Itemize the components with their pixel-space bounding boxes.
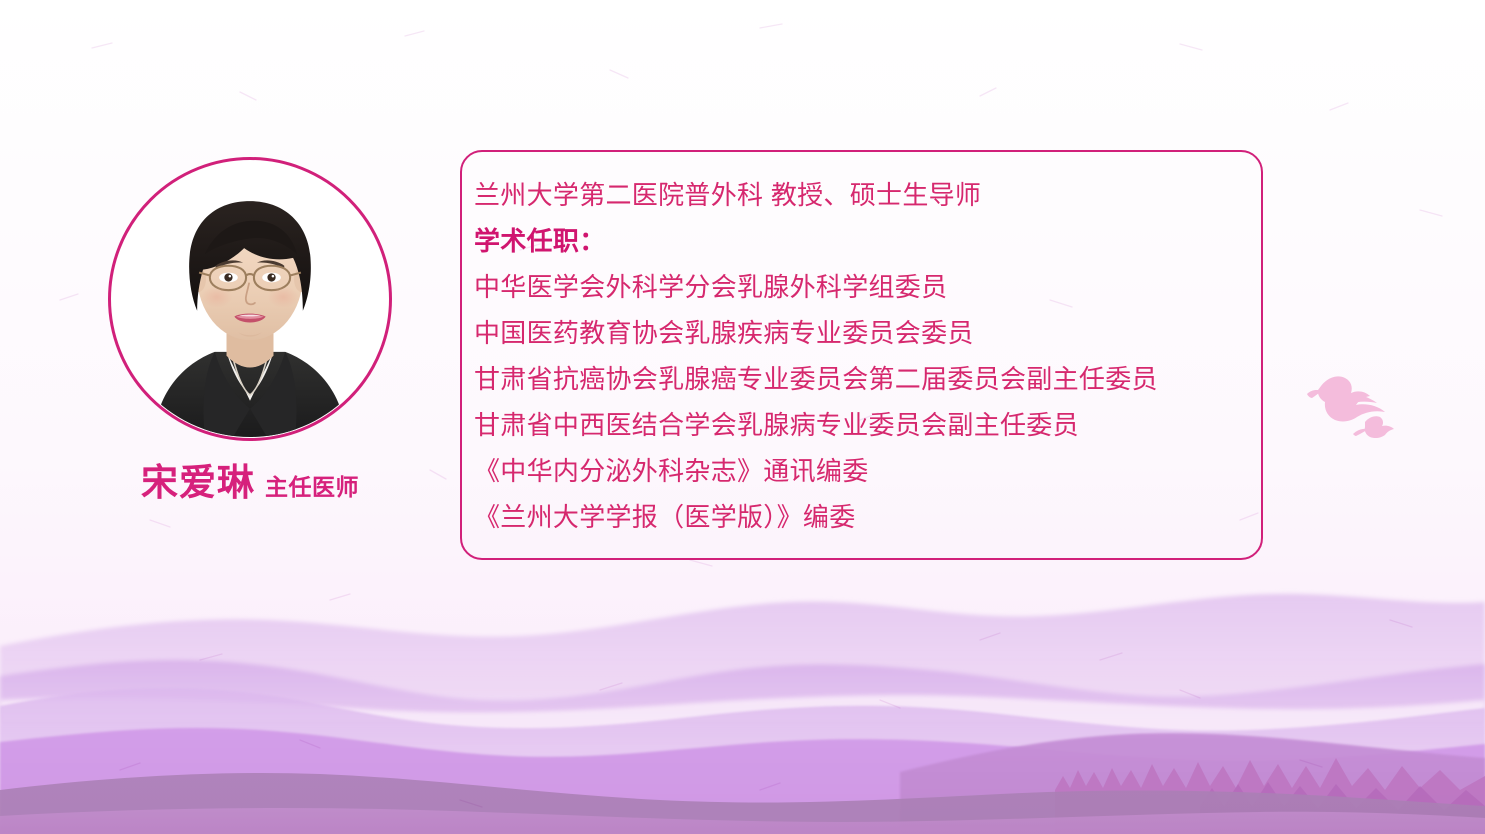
credential-line: 甘肃省抗癌协会乳腺癌专业委员会第二届委员会副主任委员	[474, 356, 1251, 402]
person-name: 宋爱琳	[141, 462, 255, 503]
credential-heading: 学术任职：	[474, 218, 1251, 264]
person-name-row: 宋爱琳主任医师	[108, 452, 392, 506]
portrait	[108, 157, 392, 441]
credentials-list: 兰州大学第二医院普外科 教授、硕士生导师 学术任职： 中华医学会外科学分会乳腺外…	[474, 172, 1251, 540]
credentials-card: 兰州大学第二医院普外科 教授、硕士生导师 学术任职： 中华医学会外科学分会乳腺外…	[460, 150, 1263, 560]
slide-canvas: 宋爱琳主任医师 兰州大学第二医院普外科 教授、硕士生导师 学术任职： 中华医学会…	[0, 0, 1485, 834]
credential-line: 甘肃省中西医结合学会乳腺病专业委员会副主任委员	[474, 402, 1251, 448]
portrait-ring	[108, 157, 392, 441]
portrait-photo	[111, 160, 389, 438]
credential-line: 兰州大学第二医院普外科 教授、硕士生导师	[474, 172, 1251, 218]
credential-line: 中国医药教育协会乳腺疾病专业委员会委员	[474, 310, 1251, 356]
credential-line: 《中华内分泌外科杂志》通讯编委	[474, 448, 1251, 494]
person-title: 主任医师	[265, 474, 359, 500]
credential-line: 中华医学会外科学分会乳腺外科学组委员	[474, 264, 1251, 310]
credential-line: 《兰州大学学报（医学版）》编委	[474, 494, 1251, 540]
